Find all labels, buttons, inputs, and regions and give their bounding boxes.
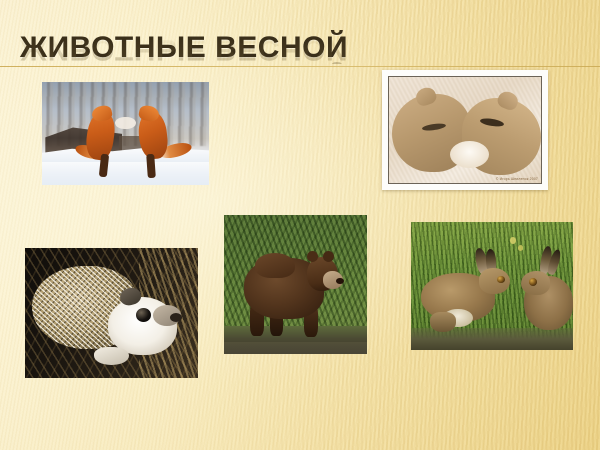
photo-rodent-pair[interactable]: © Игорь Шпиленок 2007: [382, 70, 548, 190]
presentation-slide: ЖИВОТНЫЕ ВЕСНОЙ ЖИВОТНЫЕ ВЕСНОЙ: [0, 0, 600, 450]
photo-brown-bear[interactable]: [224, 215, 367, 354]
photo-watermark: © Игорь Шпиленок 2007: [496, 177, 538, 181]
hedgehog-illustration: [25, 248, 198, 378]
photo-hares[interactable]: [411, 222, 573, 350]
photo-foxes[interactable]: [42, 82, 209, 185]
brown-bear-illustration: [224, 215, 367, 354]
foxes-illustration: [42, 82, 209, 185]
page-title-reflection: ЖИВОТНЫЕ ВЕСНОЙ: [20, 34, 348, 64]
rodent-pair-illustration: © Игорь Шпиленок 2007: [388, 76, 542, 184]
hares-illustration: [411, 222, 573, 350]
photo-hedgehog[interactable]: [25, 248, 198, 378]
